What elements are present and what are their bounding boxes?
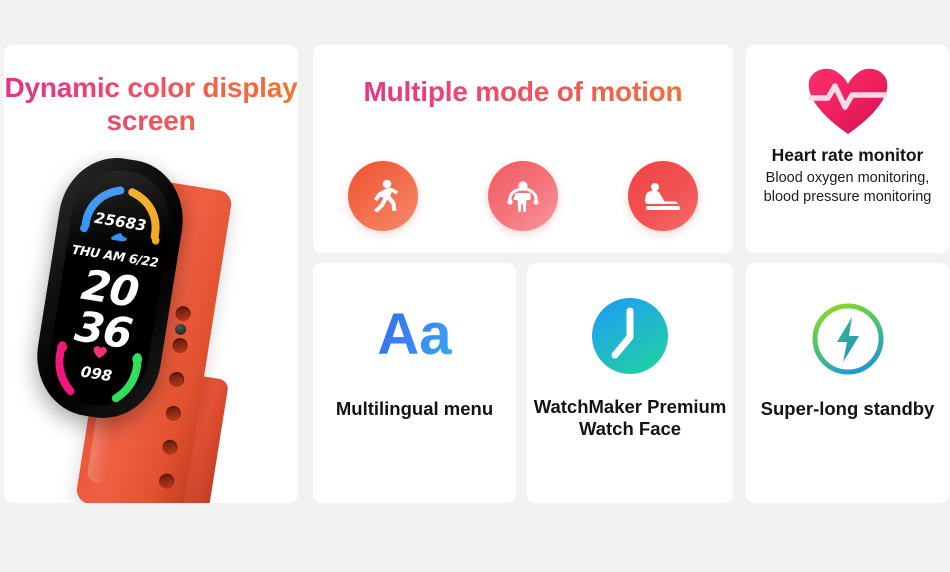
running-glyph — [363, 176, 403, 216]
lightning-bolt-icon — [746, 299, 949, 379]
band-buckle-pin — [174, 323, 187, 336]
band-hole — [174, 305, 191, 322]
heart-card-title: Heart rate monitor — [746, 145, 949, 166]
card-super-long-standby: Super-long standby — [746, 263, 949, 503]
display-card-title: Dynamic color display screen — [4, 71, 298, 137]
heart-pulse-icon — [746, 61, 949, 139]
aa-typography-icon: Aa — [313, 299, 516, 371]
infographic-board: Dynamic color display screen — [0, 0, 950, 572]
standby-card-title: Super-long standby — [746, 398, 949, 420]
jump-rope-glyph — [502, 175, 544, 217]
card-watchmaker-premium: WatchMaker Premium Watch Face — [527, 263, 733, 503]
card-heart-rate-monitor: Heart rate monitor Blood oxygen monitori… — [746, 45, 949, 253]
watch-product-photo: 25683 THU AM 6/22 20 36 — [4, 150, 298, 503]
watchmaker-card-title: WatchMaker Premium Watch Face — [527, 396, 733, 440]
clock-glyph — [589, 295, 671, 377]
multilingual-card-title: Multilingual menu — [313, 398, 516, 420]
aa-icon-label: Aa — [377, 306, 451, 364]
band-hole — [171, 337, 188, 354]
watch-screen[interactable]: 25683 THU AM 6/22 20 36 — [43, 164, 177, 412]
sit-up-icon[interactable] — [628, 161, 698, 231]
band-hole — [165, 405, 182, 422]
clock-icon — [527, 295, 733, 377]
shoe-icon — [109, 229, 129, 244]
band-hole — [168, 371, 185, 388]
card-dynamic-color-display: Dynamic color display screen — [4, 45, 298, 503]
lightning-bolt-glyph — [808, 299, 888, 379]
card-multiple-motion-modes: Multiple mode of motion — [313, 45, 733, 253]
motion-card-title: Multiple mode of motion — [313, 75, 733, 108]
card-multilingual-menu: Aa Multilingual menu — [313, 263, 516, 503]
motion-icon-row — [313, 150, 733, 242]
band-hole — [161, 439, 178, 456]
heart-glyph-icon — [91, 344, 109, 360]
heart-pulse-glyph — [805, 63, 891, 137]
jump-rope-icon[interactable] — [488, 161, 558, 231]
heart-card-subtitle: Blood oxygen monitoring, blood pressure … — [746, 169, 949, 206]
sit-up-glyph — [642, 176, 684, 216]
band-hole — [158, 473, 175, 490]
running-icon[interactable] — [348, 161, 418, 231]
